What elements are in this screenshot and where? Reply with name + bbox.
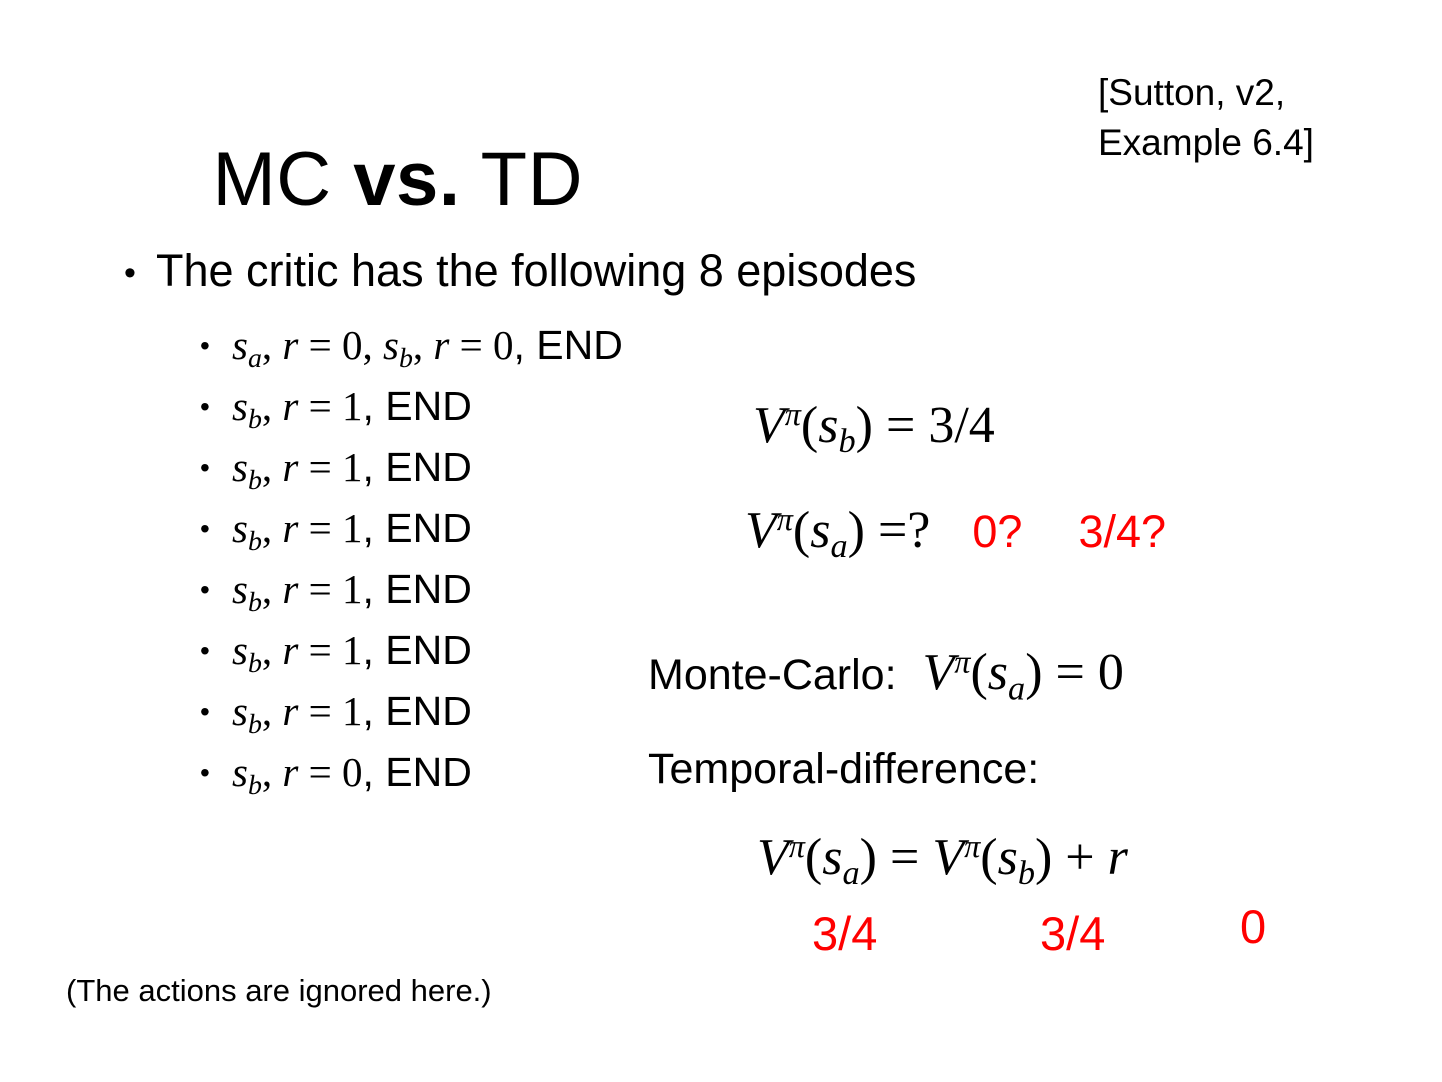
monte-carlo-label: Monte-Carlo:	[648, 651, 897, 699]
episode-text: sb, r = 1, END	[232, 691, 472, 739]
list-item: • sb, r = 1, END	[200, 623, 623, 684]
annotation-td-reward-value: 0	[1240, 903, 1266, 950]
list-item: • sb, r = 1, END	[200, 684, 623, 745]
footnote-text: (The actions are ignored here.)	[66, 973, 492, 1009]
list-item: • sb, r = 1, END	[200, 379, 623, 440]
title-part-td: TD	[460, 137, 583, 222]
list-item: • sb, r = 1, END	[200, 440, 623, 501]
lead-bullet-label: The critic has the following 8 episodes	[156, 245, 916, 296]
episode-text: sb, r = 0, END	[232, 752, 472, 800]
slide-canvas: MC vs. TD [Sutton, v2, Example 6.4] •The…	[0, 0, 1442, 1082]
episode-text: sb, r = 1, END	[232, 630, 472, 678]
bullet-dot-icon: •	[124, 256, 156, 290]
bullet-dot-icon: •	[200, 332, 232, 360]
episode-text: sb, r = 1, END	[232, 569, 472, 617]
bullet-dot-icon: •	[200, 515, 232, 543]
lead-bullet-item: •The critic has the following 8 episodes	[124, 248, 916, 293]
list-item: • sb, r = 0, END	[200, 745, 623, 806]
title-part-vs: vs.	[353, 137, 460, 222]
episode-text: sb, r = 1, END	[232, 508, 472, 556]
equation-monte-carlo: Vπ(sa) = 0	[923, 644, 1124, 701]
equation-value-sb: Vπ(sb) = 3/4	[753, 398, 995, 458]
episode-text: sa, r = 0, sb, r = 0, END	[232, 325, 623, 373]
citation-line-2: Example 6.4]	[1098, 118, 1314, 168]
annotation-option-zero: 0?	[972, 506, 1022, 557]
episode-text: sb, r = 1, END	[232, 386, 472, 434]
annotation-option-three-quarters: 3/4?	[1078, 506, 1166, 557]
annotation-td-rhs-value: 3/4	[1040, 910, 1105, 957]
monte-carlo-line: Monte-Carlo:Vπ(sa) = 0	[648, 645, 1124, 705]
citation-reference: [Sutton, v2, Example 6.4]	[1098, 68, 1314, 168]
temporal-difference-label: Temporal-difference:	[648, 745, 1039, 794]
bullet-dot-icon: •	[200, 698, 232, 726]
list-item: • sb, r = 1, END	[200, 501, 623, 562]
list-item: • sa, r = 0, sb, r = 0, END	[200, 318, 623, 379]
episode-list: • sa, r = 0, sb, r = 0, END • sb, r = 1,…	[200, 318, 623, 806]
list-item: • sb, r = 1, END	[200, 562, 623, 623]
title-part-mc: MC	[212, 137, 353, 222]
episode-text: sb, r = 1, END	[232, 447, 472, 495]
bullet-dot-icon: •	[200, 393, 232, 421]
equation-temporal-difference: Vπ(sa) = Vπ(sb) + r	[757, 830, 1128, 890]
bullet-dot-icon: •	[200, 454, 232, 482]
bullet-dot-icon: •	[200, 637, 232, 665]
annotation-td-lhs-value: 3/4	[812, 910, 877, 957]
equation-value-sa-question: Vπ(sa) =?0?3/4?	[745, 503, 1166, 563]
bullet-dot-icon: •	[200, 759, 232, 787]
citation-line-1: [Sutton, v2,	[1098, 68, 1314, 118]
bullet-dot-icon: •	[200, 576, 232, 604]
